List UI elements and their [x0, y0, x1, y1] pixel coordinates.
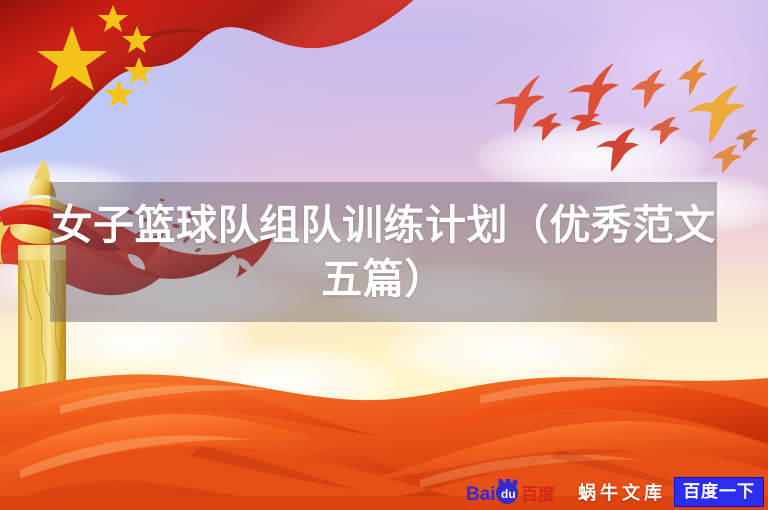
site-brand-label: 蜗牛文库	[576, 479, 668, 505]
watermark-bar: Bai du 百度 蜗牛文库 百度一下	[466, 474, 768, 510]
svg-text:du: du	[501, 487, 516, 501]
baidu-search-button[interactable]: 百度一下	[674, 477, 764, 507]
title-overlay-box: 女子篮球队组队训练计划（优秀范文五篇）	[50, 182, 717, 322]
baidu-logo[interactable]: Bai du 百度	[466, 479, 570, 505]
svg-text:百度: 百度	[521, 484, 556, 504]
page-title: 女子篮球队组队训练计划（优秀范文五篇）	[50, 198, 717, 306]
poster-canvas: 女子篮球队组队训练计划（优秀范文五篇） Bai du 百度 蜗牛文库	[0, 0, 768, 510]
svg-text:Bai: Bai	[466, 484, 496, 505]
flying-birds-icon	[480, 45, 768, 175]
